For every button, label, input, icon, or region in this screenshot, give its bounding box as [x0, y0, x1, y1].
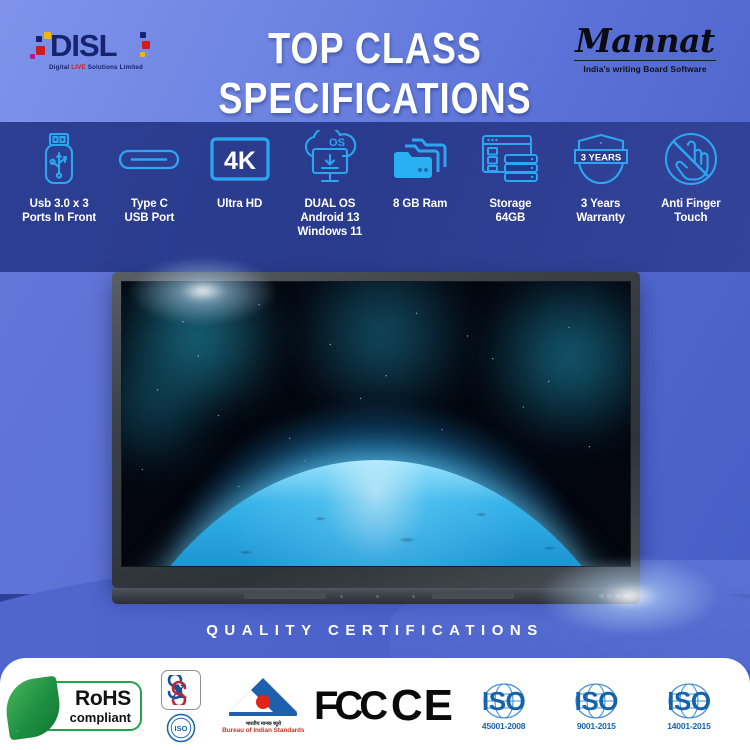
poster-header: DISL Digital LIVE Solutions Limited TOP …: [0, 0, 750, 122]
page-title-line-2: SPECIFICATIONS: [0, 74, 750, 122]
panel-screen[interactable]: [121, 281, 631, 567]
sensor-dot-2: [376, 595, 379, 598]
speaker-grille-right: [432, 593, 514, 599]
svg-text:ISO: ISO: [174, 724, 187, 733]
spec-label-storage: Storage64GB: [465, 197, 555, 225]
rohs-badge-frame: RoHS compliant: [18, 681, 142, 731]
iso-9001-globe: ISO: [559, 681, 633, 721]
rohs-badge-text: RoHS compliant: [70, 688, 131, 724]
spec-label-typec: Type CUSB Port: [104, 197, 194, 225]
spec-label-ram: 8 GB Ram: [375, 197, 465, 211]
spec-item-4k[interactable]: 4K Ultra HD: [195, 128, 285, 211]
spec-item-usb30[interactable]: Usb 3.0 x 3Ports In Front: [14, 128, 104, 225]
product-specification-poster: DISL Digital LIVE Solutions Limited TOP …: [0, 0, 750, 750]
mannat-tagline: India's writing Board Software: [570, 64, 720, 74]
rohs-badge-line2: compliant: [70, 711, 131, 724]
iso-9001-word: ISO: [559, 686, 633, 717]
iso-14001-word: ISO: [652, 686, 726, 717]
usb-type-c-icon: [104, 128, 194, 190]
usb-drive-icon: [14, 128, 104, 190]
spec-label-anti-finger: Anti FingerTouch: [646, 197, 736, 225]
fcc-badge[interactable]: FCC: [314, 684, 384, 729]
spec-label-warranty: 3 YearsWarranty: [556, 197, 646, 225]
rohs-badge[interactable]: RoHS compliant: [18, 680, 142, 732]
mannat-logo[interactable]: Mannat India's writing Board Software: [570, 24, 720, 74]
spec-item-anti-finger[interactable]: Anti FingerTouch: [646, 128, 736, 225]
iso-seal-icon: ISO: [166, 713, 196, 743]
bis-label-english: Bureau of Indian Standards: [222, 727, 304, 734]
bis-badge[interactable]: भारतीय मानक ब्यूरो Bureau of Indian Stan…: [219, 678, 307, 734]
spec-label-4k: Ultra HD: [195, 197, 285, 211]
server-storage-icon: [465, 128, 555, 190]
svg-text:OS: OS: [329, 137, 345, 149]
anti-finger-touch-icon: [646, 128, 736, 190]
iso-45001-globe: ISO: [467, 681, 541, 721]
warranty-shield-icon: 3 YEARS: [556, 128, 646, 190]
spec-label-usb30: Usb 3.0 x 3Ports In Front: [14, 197, 104, 225]
bis-emblem: [226, 678, 300, 720]
interactive-flat-panel[interactable]: [112, 272, 640, 602]
panel-control-buttons[interactable]: [599, 594, 628, 598]
iso-45001-badge[interactable]: ISO 45001-2008: [461, 681, 547, 731]
folders-icon: [375, 128, 465, 190]
spec-item-dual-os[interactable]: OS DUAL OSAndroid 13Windows 11: [285, 128, 375, 239]
iso-9001-badge[interactable]: ISO 9001-2015: [553, 681, 639, 731]
cloud-monitor-os-icon: OS: [285, 128, 375, 190]
svg-text:4K: 4K: [224, 147, 256, 175]
certifications-heading: QUALITY CERTIFICATIONS: [0, 622, 750, 639]
speaker-grille-left: [244, 593, 326, 599]
sensor-dot-1: [340, 595, 343, 598]
spec-item-storage[interactable]: Storage64GB: [465, 128, 555, 225]
mannat-wordmark: Mannat: [570, 24, 720, 58]
spec-item-typec[interactable]: Type CUSB Port: [104, 128, 194, 225]
fcc-mark-text: FCC: [314, 684, 384, 729]
iso-9001-code: 9001-2015: [559, 721, 633, 731]
panel-chin-bar: [112, 588, 640, 604]
iso-14001-globe: ISO: [652, 681, 726, 721]
s-mark-svg: [164, 675, 190, 705]
bis-base-bar: [229, 712, 297, 716]
panel-bezel: [112, 272, 640, 588]
s-mark-frame: x: [161, 670, 201, 710]
4k-display-icon: 4K: [195, 128, 285, 190]
iso-14001-badge[interactable]: ISO 14001-2015: [646, 681, 732, 731]
leaf-icon: [2, 676, 64, 741]
spec-item-ram[interactable]: 8 GB Ram: [375, 128, 465, 211]
certification-badges-row: RoHS compliant x ISO: [0, 662, 750, 750]
iso-45001-word: ISO: [467, 686, 541, 717]
specifications-row: Usb 3.0 x 3Ports In Front Type CUSB Port…: [0, 128, 750, 268]
mannat-divider: [574, 60, 716, 61]
sensor-dot-3: [412, 595, 415, 598]
iso-45001-code: 45001-2008: [467, 721, 541, 731]
spec-item-warranty[interactable]: 3 YEARS 3 YearsWarranty: [556, 128, 646, 225]
s-mark-iso-badge[interactable]: x ISO: [149, 670, 213, 743]
rohs-badge-line1: RoHS: [70, 688, 131, 709]
iso-14001-code: 14001-2015: [652, 721, 726, 731]
svg-text:3 YEARS: 3 YEARS: [580, 153, 620, 164]
ce-badge[interactable]: CE: [391, 681, 454, 731]
ce-mark-text: CE: [391, 681, 454, 731]
spec-label-dual-os: DUAL OSAndroid 13Windows 11: [285, 197, 375, 239]
